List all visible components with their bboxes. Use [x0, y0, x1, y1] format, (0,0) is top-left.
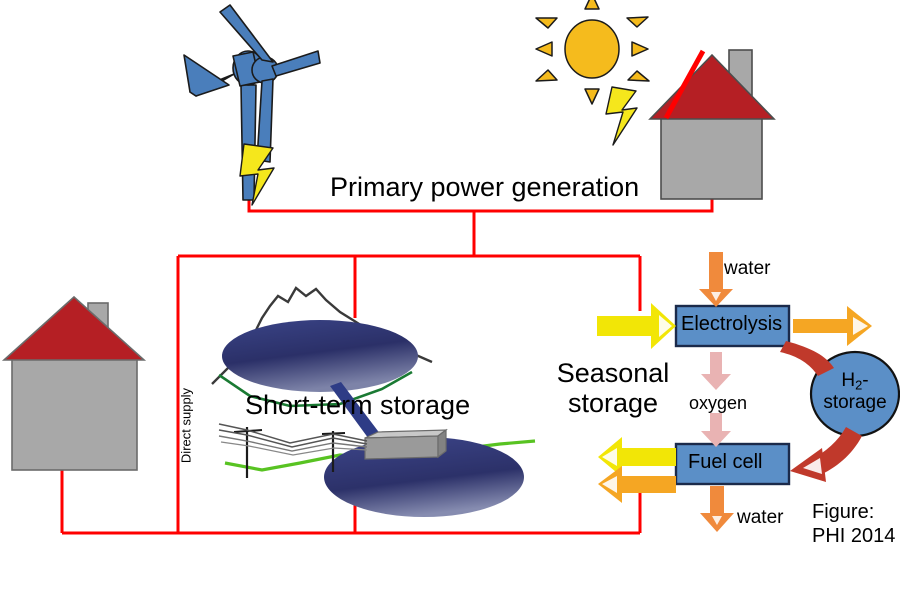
turbine-blade-2: [272, 51, 320, 76]
electrolysis-label: Electrolysis: [681, 313, 782, 336]
upper-reservoir: [222, 320, 418, 392]
pv-house-body: [661, 117, 762, 199]
seasonal-storage-label-line2: storage: [553, 388, 673, 418]
power-to-electrolysis-arrow: [597, 303, 676, 349]
fuel-cell-label: Fuel cell: [688, 451, 762, 474]
h2-consumption-arrow: [790, 427, 862, 482]
oxygen-arrow-upper: [701, 352, 731, 390]
turbine-mast: [241, 85, 256, 200]
h2-storage-label-dash: -: [862, 370, 868, 391]
figure-credit-line2: PHI 2014: [812, 524, 895, 548]
figure-credit: Figure: PHI 2014: [812, 500, 895, 549]
oxygen-label: oxygen: [689, 393, 747, 414]
h2-storage-label-line2: storage: [823, 393, 887, 414]
sun-ray-w: [536, 42, 552, 56]
fuelcell-output-arrow-yellow: [598, 437, 676, 477]
diagram-canvas: Primary power generation Short-term stor…: [0, 0, 900, 613]
turbine-tail-fin: [184, 55, 229, 96]
house-with-solar-panel-icon: [650, 50, 774, 199]
lightning-bolt-icon-solar: [606, 87, 637, 145]
water-outlet-arrow: [700, 486, 734, 532]
water-inlet-label: water: [724, 258, 770, 280]
primary-power-generation-label: Primary power generation: [330, 172, 639, 203]
electrolysis-export-arrow: [793, 306, 872, 346]
direct-supply-label: Direct supply: [179, 381, 194, 471]
h2-storage-label-line1: H2-: [823, 371, 887, 393]
house-icon-consumer: [4, 297, 144, 470]
h2-storage-label: H2- storage: [823, 371, 887, 414]
sun-ray-sw: [536, 70, 557, 81]
seasonal-storage-label: Seasonal storage: [553, 358, 673, 418]
sun-ray-se: [628, 71, 649, 81]
consumer-house-body: [12, 359, 137, 470]
power-station-icon: [365, 430, 446, 459]
fuelcell-output-arrow-orange: [598, 466, 676, 503]
seasonal-storage-label-line1: Seasonal: [553, 358, 673, 388]
power-station-front: [365, 436, 438, 459]
sun-ray-e: [632, 42, 648, 56]
short-term-storage-label: Short-term storage: [245, 390, 470, 421]
sun-icon: [536, 0, 649, 104]
sun-ray-n: [585, 0, 599, 9]
sun-ray-ne: [627, 17, 648, 27]
consumer-house-roof: [4, 297, 144, 360]
sun-ray-nw: [536, 18, 557, 28]
h2-storage-label-element: H: [841, 370, 855, 391]
sun-ray-s: [585, 89, 599, 104]
sun-disc: [565, 20, 619, 78]
figure-credit-line1: Figure:: [812, 500, 895, 524]
oxygen-arrow-lower: [701, 413, 731, 447]
water-outlet-label: water: [737, 507, 783, 529]
